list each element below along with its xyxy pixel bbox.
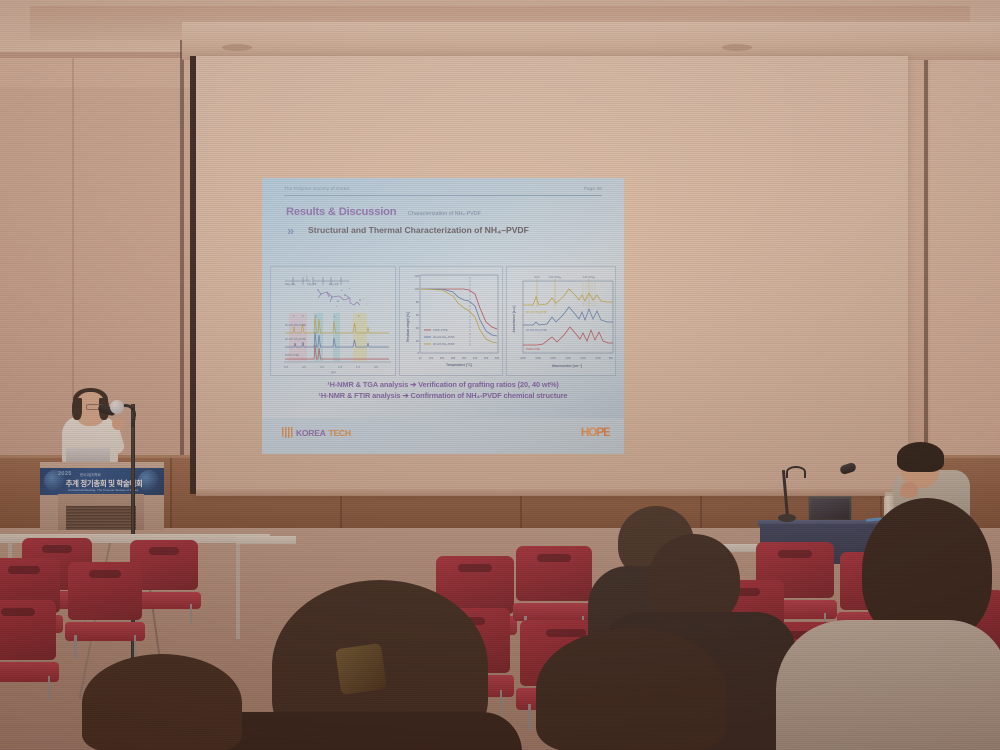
svg-text:C-N⁺(CH₃)₃: C-N⁺(CH₃)₃ [583,276,596,279]
nmr-svg: CH₂–CF₂ CF₂–CF CF₂–CF a b d N [271,267,397,377]
projected-slide: The Polymer Society of Korea Page 06 Res… [262,178,624,454]
koreatech-mark-icon [282,427,293,438]
svg-text:2.5: 2.5 [338,365,342,369]
svg-text:2000: 2000 [520,357,526,360]
svg-text:Absorbance [a.u.]: Absorbance [a.u.] [512,306,516,333]
svg-text:80: 80 [416,300,420,304]
wall-panel-right [930,58,1000,510]
svg-text:C=O: C=O [535,276,540,279]
svg-text:c: c [336,306,338,308]
banner-year: 2025 [58,471,72,477]
svg-text:120: 120 [414,274,419,278]
svg-text:4.5: 4.5 [302,365,306,369]
slide-page-number: Page 06 [584,186,602,191]
chart-tga: 120 100 80 60 40 20 0 Residual weight [%… [399,266,503,376]
svg-text:20 wt% NH₄-PVDF: 20 wt% NH₄-PVDF [526,329,547,332]
koreatech-logo: KOREA TECH [282,427,351,438]
svg-text:40 wt% NH₄-PVDF: 40 wt% NH₄-PVDF [433,342,455,346]
slide-header-left: The Polymer Society of Korea [284,186,349,191]
svg-text:I⁻: I⁻ [366,303,368,306]
svg-text:40 wt% NH₄-PVDF: 40 wt% NH₄-PVDF [285,324,306,327]
svg-text:20 wt% NH₄-PVDF: 20 wt% NH₄-PVDF [285,338,306,341]
wall-seam-dark [924,40,928,510]
figure-row: CH₂–CF₂ CF₂–CF CF₂–CF a b d N [270,266,616,376]
svg-text:0: 0 [417,351,419,355]
audience-shoulders [776,620,1000,750]
slide-section-title: Structural and Thermal Characterization … [308,225,529,235]
svg-text:360: 360 [462,356,467,360]
svg-text:N: N [359,299,361,302]
conclusion-line-1: ¹H-NMR & TGA analysis ➔ Verification of … [262,380,624,391]
screen-bottom-bar [196,489,908,496]
chair-leg [74,635,77,658]
screen-mount-knob [722,44,752,51]
svg-text:3.5: 3.5 [320,365,324,369]
svg-text:1600: 1600 [550,357,556,360]
svg-text:a: a [306,276,308,278]
koreatech-logo-korea: KOREA [296,428,326,438]
conference-photo: The Polymer Society of Korea Page 06 Res… [0,0,1000,750]
svg-text:200: 200 [440,356,445,360]
svg-text:60: 60 [416,313,420,317]
hope-logo: HOPE [581,425,610,439]
chair-leg [190,604,193,624]
chair [0,600,56,700]
svg-text:1400: 1400 [565,357,571,360]
svg-text:PVDF-CTFE: PVDF-CTFE [285,354,299,357]
svg-text:C-N⁺(CH₃)₃: C-N⁺(CH₃)₃ [549,276,562,279]
banner-title-english: Annual Fall Meeting, The Polymer Society… [48,488,158,492]
chart-ftir: Absorbance [a.u.] C=O C-N⁺(CH₃)₃ C-N⁺(CH… [506,266,616,376]
svg-text:40 wt% NH₄-PVDF: 40 wt% NH₄-PVDF [526,311,547,314]
wainscot-seam [170,458,172,530]
svg-text:CH₂–CF₂: CH₂–CF₂ [285,282,296,286]
chevron-right-icon: » [287,224,291,237]
header-rule [284,195,602,196]
laptop-screen [811,499,849,519]
wall-seam-dark [180,40,184,510]
chart-nmr: CH₂–CF₂ CF₂–CF CF₂–CF a b d N [270,266,396,376]
screen-mount-knob [222,44,252,51]
chair [68,562,142,658]
slide-header: The Polymer Society of Korea Page 06 [284,186,602,191]
slide-subtitle: Characterization of NH₄-PVDF [408,211,481,217]
svg-text:1800: 1800 [535,357,541,360]
slide-title: Results & Discussion [286,206,396,218]
svg-text:+: + [363,298,364,300]
hair-clip [335,643,387,695]
microphone-head-icon [110,400,124,414]
speaker-hair-side [72,398,82,420]
chair-leg [528,704,531,730]
chair-back [68,562,142,620]
ftir-svg: Absorbance [a.u.] C=O C-N⁺(CH₃)₃ C-N⁺(CH… [507,267,617,377]
chair-seat [0,662,59,682]
chair-leg [48,676,51,700]
svg-text:520: 520 [484,356,489,360]
moderator-hair [897,442,944,472]
svg-text:0.5: 0.5 [374,365,378,369]
svg-text:600: 600 [495,356,500,360]
svg-text:CF₂–CF: CF₂–CF [329,282,339,286]
svg-text:100: 100 [414,287,419,291]
svg-text:440: 440 [473,356,478,360]
chair-back [0,600,56,660]
svg-text:20 wt% NH₄-PVDF: 20 wt% NH₄-PVDF [433,335,455,339]
svg-text:Temperature [°C]: Temperature [°C] [446,363,472,367]
svg-text:120: 120 [429,356,434,360]
conclusion-line-2: ¹H-NMR & FTIR analysis ➔ Confirmation of… [262,391,624,402]
podium-grill [66,506,136,530]
table-leg [236,543,240,639]
tga-svg: 120 100 80 60 40 20 0 Residual weight [%… [400,267,504,377]
banquet-table [236,536,296,544]
chair-back [516,546,592,601]
svg-text:40: 40 [416,326,420,330]
svg-text:Residual weight [%]: Residual weight [%] [406,312,410,342]
projection-screen-housing [182,22,1000,60]
svg-text:20: 20 [416,339,420,343]
svg-text:5.5: 5.5 [284,365,288,369]
koreatech-logo-tech: TECH [329,428,351,438]
svg-text:PVDF-CTFE: PVDF-CTFE [526,348,540,351]
svg-text:Wavenumber [cm⁻¹]: Wavenumber [cm⁻¹] [552,364,582,368]
svg-text:e: e [349,288,351,290]
chair-leg [500,690,503,716]
svg-text:1.5: 1.5 [356,365,360,369]
svg-text:1000: 1000 [595,357,601,360]
svg-text:1200: 1200 [580,357,586,360]
podium-banner: 2025 한국고분자학회 추계 정기총회 및 학술대회 Annual Fall … [40,468,164,495]
svg-text:280: 280 [451,356,456,360]
banner-org-korean: 한국고분자학회 [80,472,101,477]
audience-head [82,654,242,750]
slide-conclusions: ¹H-NMR & TGA analysis ➔ Verification of … [262,380,624,401]
moderator-hand [900,482,918,498]
svg-text:40: 40 [419,356,422,360]
chair-leg [134,635,137,658]
svg-text:ppm: ppm [331,371,336,374]
table-mic-base [778,514,796,522]
svg-text:CF₂–CF: CF₂–CF [307,282,317,286]
svg-text:PVDF-CTFE: PVDF-CTFE [433,328,448,332]
svg-text:d: d [341,290,343,292]
svg-text:800: 800 [609,357,614,360]
audience-head [536,628,726,750]
table-mic-gooseneck [786,466,806,478]
